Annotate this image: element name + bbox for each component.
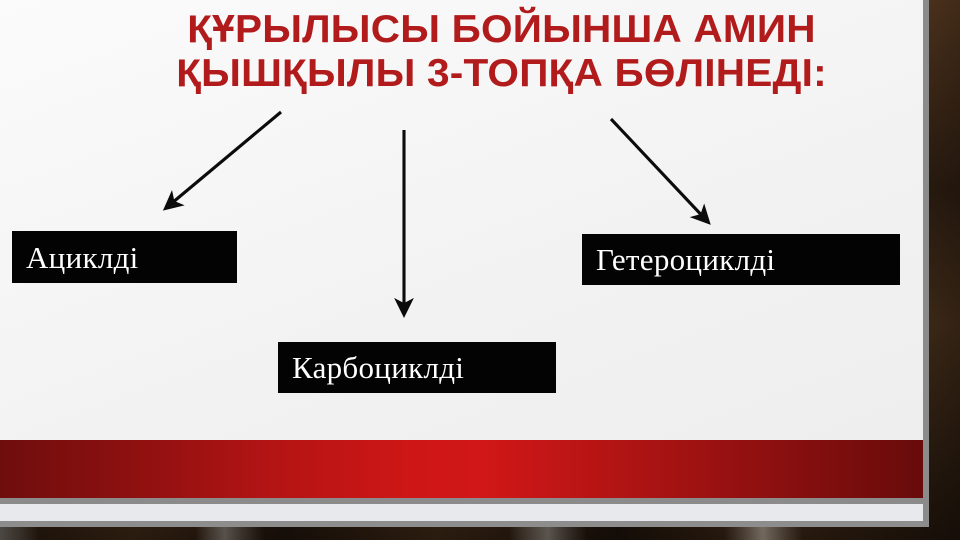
footer-strip [0, 504, 929, 521]
page-title: ҚҰРЫЛЫСЫ БОЙЫНША АМИН ҚЫШҚЫЛЫ 3-ТОПҚА БӨ… [78, 8, 923, 96]
slide-body: ҚҰРЫЛЫСЫ БОЙЫНША АМИН ҚЫШҚЫЛЫ 3-ТОПҚА БӨ… [0, 0, 923, 521]
arrow-down-right-icon [611, 119, 708, 222]
slide-canvas: ҚҰРЫЛЫСЫ БОЙЫНША АМИН ҚЫШҚЫЛЫ 3-ТОПҚА БӨ… [0, 0, 960, 540]
footer-accent-band [0, 440, 923, 498]
slide-right-edge [923, 0, 929, 527]
arrow-down-left-icon [166, 112, 281, 208]
category-box-heterocyclic: Гетероциклді [582, 234, 900, 285]
category-box-acyclic: Ациклді [12, 231, 237, 283]
category-box-carbocyclic: Карбоциклді [278, 342, 556, 393]
